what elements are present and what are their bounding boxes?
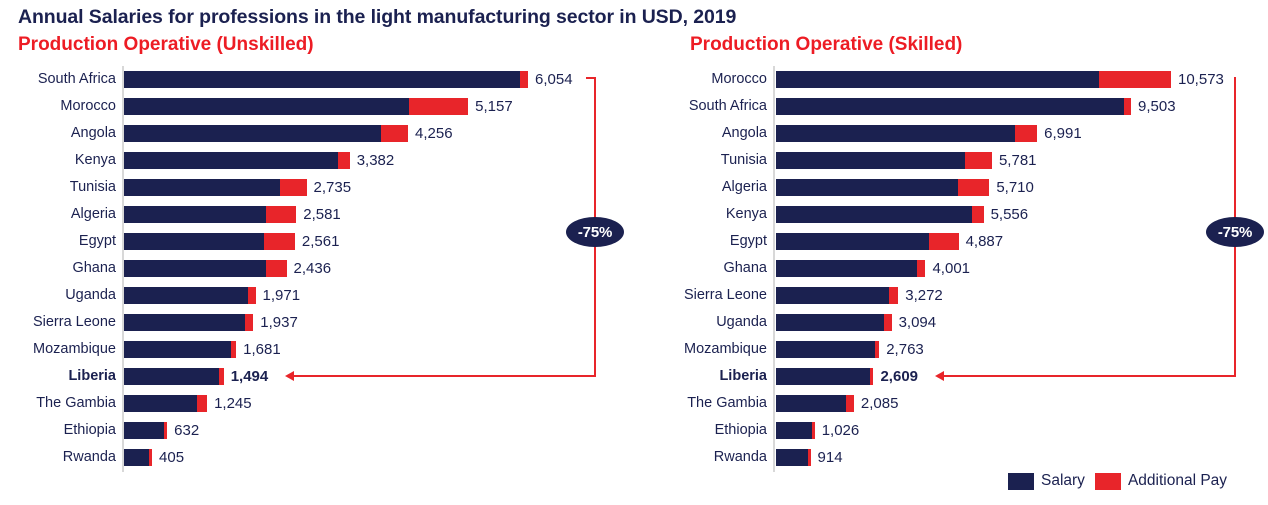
bar-category-label: Morocco — [60, 98, 116, 115]
bar-segment-additional-pay — [875, 341, 879, 358]
bar-segment-additional-pay — [197, 395, 207, 412]
bar-category-label: Ethiopia — [715, 422, 767, 439]
stacked-bar — [776, 233, 959, 250]
stacked-bar — [124, 233, 295, 250]
bar-segment-salary — [776, 341, 875, 358]
stacked-bar — [124, 179, 307, 196]
bar-value-label: 2,763 — [886, 341, 924, 358]
bar-value-label: 4,256 — [415, 125, 453, 142]
bar-segment-additional-pay — [266, 260, 287, 277]
table-row: Mozambique2,763 — [634, 338, 1268, 365]
bar-category-label: Rwanda — [714, 449, 767, 466]
bar-value-label: 1,245 — [214, 395, 252, 412]
table-row: Algeria5,710 — [634, 176, 1268, 203]
bar-category-label: Kenya — [75, 152, 116, 169]
bar-category-label: Rwanda — [63, 449, 116, 466]
bar-segment-salary — [124, 287, 248, 304]
bar-value-label: 2,735 — [314, 179, 352, 196]
bar-value-label: 2,561 — [302, 233, 340, 250]
bar-segment-salary — [776, 71, 1099, 88]
stacked-bar — [776, 179, 989, 196]
table-row: Liberia2,609 — [634, 365, 1268, 392]
bar-segment-salary — [124, 206, 266, 223]
bar-value-label: 4,887 — [966, 233, 1004, 250]
table-row: Tunisia2,735 — [0, 176, 634, 203]
stacked-bar — [776, 395, 854, 412]
table-row: Ghana2,436 — [0, 257, 634, 284]
bar-category-label: Ethiopia — [64, 422, 116, 439]
stacked-bar — [124, 314, 253, 331]
bar-segment-salary — [776, 395, 846, 412]
bar-category-label: Ghana — [723, 260, 767, 277]
bar-segment-salary — [776, 422, 812, 439]
bar-segment-salary — [776, 233, 929, 250]
stacked-bar — [776, 260, 925, 277]
stacked-bar — [776, 422, 815, 439]
stacked-bar — [124, 206, 296, 223]
stacked-bar — [776, 449, 811, 466]
stacked-bar — [776, 125, 1037, 142]
table-row: Rwanda405 — [0, 446, 634, 473]
legend-label-salary: Salary — [1041, 472, 1085, 490]
stacked-bar — [776, 206, 984, 223]
table-row: Liberia1,494 — [0, 365, 634, 392]
table-row: Kenya3,382 — [0, 149, 634, 176]
bar-segment-salary — [124, 314, 245, 331]
bar-segment-salary — [776, 314, 884, 331]
bar-segment-salary — [776, 206, 972, 223]
bar-value-label: 2,436 — [294, 260, 332, 277]
bar-segment-additional-pay — [381, 125, 408, 142]
bar-category-label: South Africa — [689, 98, 767, 115]
table-row: Angola4,256 — [0, 122, 634, 149]
bar-category-label: Liberia — [68, 368, 116, 385]
bar-category-label: Algeria — [722, 179, 767, 196]
bar-category-label: Sierra Leone — [684, 287, 767, 304]
bar-value-label: 5,157 — [475, 98, 513, 115]
bar-value-label: 632 — [174, 422, 199, 439]
stacked-bar — [776, 71, 1171, 88]
stacked-bar — [776, 98, 1131, 115]
table-row: Angola6,991 — [634, 122, 1268, 149]
bar-segment-salary — [124, 71, 520, 88]
legend-swatch-salary-icon — [1008, 473, 1034, 490]
table-row: The Gambia1,245 — [0, 392, 634, 419]
bar-segment-salary — [776, 449, 808, 466]
bar-segment-salary — [124, 260, 266, 277]
stacked-bar — [776, 368, 873, 385]
bar-segment-salary — [124, 395, 197, 412]
bar-segment-additional-pay — [846, 395, 854, 412]
stacked-bar — [776, 287, 898, 304]
legend-label-additional-pay: Additional Pay — [1128, 472, 1227, 490]
bar-value-label: 5,710 — [996, 179, 1034, 196]
stacked-bar — [776, 152, 992, 169]
bar-category-label: Angola — [722, 125, 767, 142]
bar-segment-salary — [124, 233, 264, 250]
bar-category-label: Angola — [71, 125, 116, 142]
bar-value-label: 6,991 — [1044, 125, 1082, 142]
bar-value-label: 1,494 — [231, 368, 269, 385]
table-row: South Africa6,054 — [0, 68, 634, 95]
stacked-bar — [776, 341, 879, 358]
bar-category-label: Egypt — [79, 233, 116, 250]
chart-subtitle-skilled: Production Operative (Skilled) — [690, 34, 962, 56]
bar-category-label: Mozambique — [33, 341, 116, 358]
bar-value-label: 10,573 — [1178, 71, 1224, 88]
chart-subtitle-unskilled: Production Operative (Unskilled) — [18, 34, 314, 56]
bar-segment-additional-pay — [917, 260, 926, 277]
bar-value-label: 1,681 — [243, 341, 281, 358]
bar-category-label: Algeria — [71, 206, 116, 223]
bar-value-label: 2,085 — [861, 395, 899, 412]
chart-panel-unskilled: Production Operative (Unskilled) South A… — [0, 0, 634, 505]
stacked-bar — [124, 368, 224, 385]
bar-segment-additional-pay — [280, 179, 307, 196]
bar-segment-additional-pay — [1099, 71, 1171, 88]
chart-panel-skilled: Production Operative (Skilled) Morocco10… — [634, 0, 1268, 505]
table-row: The Gambia2,085 — [634, 392, 1268, 419]
legend: Salary Additional Pay — [1008, 472, 1227, 490]
legend-swatch-additional-pay-icon — [1095, 473, 1121, 490]
legend-item-additional-pay: Additional Pay — [1095, 472, 1227, 490]
bar-segment-additional-pay — [264, 233, 295, 250]
table-row: Uganda3,094 — [634, 311, 1268, 338]
table-row: Egypt2,561 — [0, 230, 634, 257]
table-row: Sierra Leone1,937 — [0, 311, 634, 338]
stacked-bar — [124, 260, 287, 277]
table-row: Rwanda914 — [634, 446, 1268, 473]
bar-value-label: 1,937 — [260, 314, 298, 331]
stacked-bar — [124, 71, 528, 88]
bar-segment-additional-pay — [812, 422, 815, 439]
bar-value-label: 1,971 — [263, 287, 301, 304]
bar-category-label: Liberia — [719, 368, 767, 385]
bar-segment-salary — [124, 125, 381, 142]
bar-value-label: 2,581 — [303, 206, 341, 223]
bar-segment-salary — [124, 341, 231, 358]
stacked-bar — [776, 314, 892, 331]
bar-segment-additional-pay — [338, 152, 350, 169]
bar-segment-salary — [124, 422, 164, 439]
bar-segment-additional-pay — [164, 422, 167, 439]
bar-segment-salary — [124, 179, 280, 196]
table-row: Ethiopia632 — [0, 419, 634, 446]
bar-value-label: 1,026 — [822, 422, 860, 439]
table-row: Ethiopia1,026 — [634, 419, 1268, 446]
bar-value-label: 3,272 — [905, 287, 943, 304]
bar-segment-additional-pay — [149, 449, 152, 466]
bar-category-label: South Africa — [38, 71, 116, 88]
legend-item-salary: Salary — [1008, 472, 1085, 490]
bar-category-label: Tunisia — [721, 152, 767, 169]
bar-category-label: Mozambique — [684, 341, 767, 358]
table-row: Sierra Leone3,272 — [634, 284, 1268, 311]
table-row: Ghana4,001 — [634, 257, 1268, 284]
table-row: Morocco5,157 — [0, 95, 634, 122]
bar-segment-additional-pay — [266, 206, 297, 223]
stacked-bar — [124, 98, 468, 115]
bar-segment-additional-pay — [231, 341, 236, 358]
stacked-bar — [124, 422, 167, 439]
bar-segment-salary — [776, 368, 870, 385]
bar-segment-salary — [776, 287, 889, 304]
bar-segment-additional-pay — [929, 233, 959, 250]
bar-value-label: 3,094 — [899, 314, 937, 331]
table-row: Morocco10,573 — [634, 68, 1268, 95]
bar-value-label: 5,556 — [991, 206, 1029, 223]
bar-category-label: Sierra Leone — [33, 314, 116, 331]
bar-segment-additional-pay — [1124, 98, 1131, 115]
stacked-bar — [124, 395, 207, 412]
bar-category-label: Egypt — [730, 233, 767, 250]
bar-segment-additional-pay — [808, 449, 811, 466]
stacked-bar — [124, 287, 256, 304]
bar-segment-salary — [124, 98, 409, 115]
bar-segment-salary — [776, 152, 965, 169]
bar-segment-additional-pay — [520, 71, 528, 88]
bar-category-label: Tunisia — [70, 179, 116, 196]
bar-segment-additional-pay — [1015, 125, 1037, 142]
stacked-bar — [124, 152, 350, 169]
table-row: Mozambique1,681 — [0, 338, 634, 365]
bar-value-label: 3,382 — [357, 152, 395, 169]
stacked-bar — [124, 449, 152, 466]
table-row: Tunisia5,781 — [634, 149, 1268, 176]
plot-area-skilled: Morocco10,573South Africa9,503Angola6,99… — [634, 66, 1268, 478]
bar-segment-additional-pay — [245, 314, 253, 331]
stacked-bar — [124, 341, 236, 358]
bar-category-label: Ghana — [72, 260, 116, 277]
bar-segment-salary — [124, 368, 219, 385]
bar-value-label: 914 — [818, 449, 843, 466]
bar-segment-salary — [776, 98, 1124, 115]
bar-segment-salary — [124, 152, 338, 169]
bar-value-label: 4,001 — [932, 260, 970, 277]
bar-segment-additional-pay — [870, 368, 874, 385]
stacked-bar — [124, 125, 408, 142]
bar-segment-salary — [776, 125, 1015, 142]
table-row: South Africa9,503 — [634, 95, 1268, 122]
bar-category-label: The Gambia — [36, 395, 116, 412]
bar-value-label: 5,781 — [999, 152, 1037, 169]
bar-value-label: 9,503 — [1138, 98, 1176, 115]
plot-area-unskilled: South Africa6,054Morocco5,157Angola4,256… — [0, 66, 634, 478]
table-row: Algeria2,581 — [0, 203, 634, 230]
bar-segment-additional-pay — [409, 98, 468, 115]
bar-segment-salary — [776, 179, 958, 196]
bar-segment-additional-pay — [884, 314, 891, 331]
bar-value-label: 6,054 — [535, 71, 573, 88]
bar-segment-additional-pay — [965, 152, 992, 169]
bar-category-label: Uganda — [65, 287, 116, 304]
bar-segment-additional-pay — [958, 179, 990, 196]
bar-segment-additional-pay — [248, 287, 256, 304]
bar-segment-salary — [776, 260, 917, 277]
bar-value-label: 405 — [159, 449, 184, 466]
bar-value-label: 2,609 — [880, 368, 918, 385]
bar-category-label: Morocco — [711, 71, 767, 88]
bar-segment-additional-pay — [889, 287, 898, 304]
table-row: Kenya5,556 — [634, 203, 1268, 230]
bar-category-label: Kenya — [726, 206, 767, 223]
bar-segment-salary — [124, 449, 149, 466]
table-row: Egypt4,887 — [634, 230, 1268, 257]
bar-segment-additional-pay — [219, 368, 224, 385]
bar-category-label: The Gambia — [687, 395, 767, 412]
bar-category-label: Uganda — [716, 314, 767, 331]
table-row: Uganda1,971 — [0, 284, 634, 311]
bar-segment-additional-pay — [972, 206, 983, 223]
